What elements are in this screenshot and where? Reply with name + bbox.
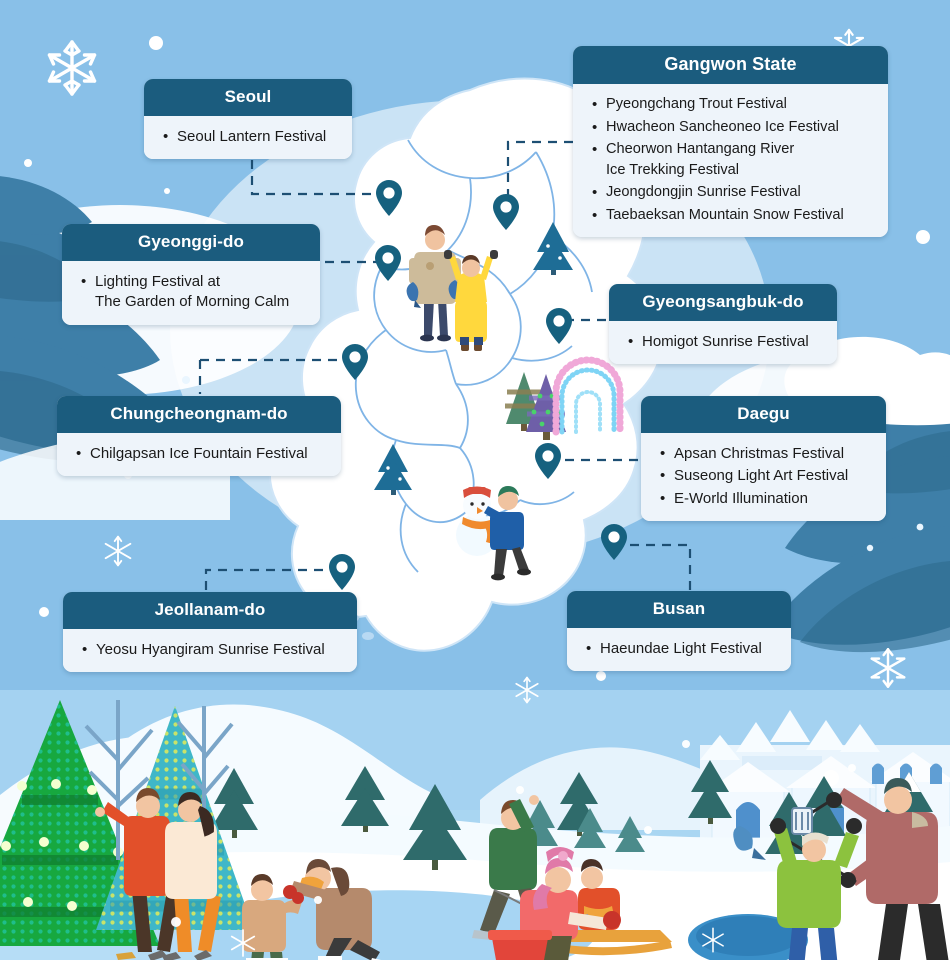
map-pin-daegu[interactable]: [534, 442, 562, 485]
map-pin-gangwon[interactable]: [492, 193, 520, 236]
festival-list-busan: Haeundae Light Festival: [583, 639, 775, 659]
map-pin-icon: [374, 244, 402, 282]
festival-item: Hwacheon Sancheoneo Ice Festival: [589, 117, 872, 138]
map-pin-icon: [534, 442, 562, 480]
card-body-gyeongsangbuk: Homigot Sunrise Festival: [609, 321, 837, 364]
card-body-gyeonggi: Lighting Festival at The Garden of Morni…: [62, 261, 320, 325]
map-pin-seoul[interactable]: [375, 179, 403, 222]
card-body-daegu: Apsan Christmas FestivalSuseong Light Ar…: [641, 433, 886, 521]
festival-list-seoul: Seoul Lantern Festival: [160, 127, 336, 147]
card-title-gyeonggi: Gyeonggi-do: [62, 224, 320, 261]
festival-list-gyeongsangbuk: Homigot Sunrise Festival: [625, 332, 821, 352]
card-title-gangwon: Gangwon State: [573, 46, 888, 84]
festival-item: Seoul Lantern Festival: [160, 127, 336, 147]
card-body-gangwon: Pyeongchang Trout FestivalHwacheon Sanch…: [573, 84, 888, 237]
card-gangwon[interactable]: Gangwon State Pyeongchang Trout Festival…: [573, 46, 888, 237]
card-busan[interactable]: Busan Haeundae Light Festival: [567, 591, 791, 671]
card-gyeongsangbuk[interactable]: Gyeongsangbuk-do Homigot Sunrise Festiva…: [609, 284, 837, 364]
festival-item: Homigot Sunrise Festival: [625, 332, 821, 352]
snowflake-icon: [516, 678, 538, 703]
festival-list-gyeonggi: Lighting Festival at The Garden of Morni…: [78, 272, 304, 313]
card-title-seoul: Seoul: [144, 79, 352, 116]
card-chungcheongnam[interactable]: Chungcheongnam-do Chilgapsan Ice Fountai…: [57, 396, 341, 476]
card-gyeonggi[interactable]: Gyeonggi-do Lighting Festival at The Gar…: [62, 224, 320, 325]
map-pin-gyeonggi[interactable]: [374, 244, 402, 287]
map-pin-icon: [328, 553, 356, 591]
snowflake-icon: [50, 42, 95, 94]
card-jeollanam[interactable]: Jeollanam-do Yeosu Hyangiram Sunrise Fes…: [63, 592, 357, 672]
map-pin-chungcheongnam[interactable]: [341, 343, 369, 386]
winter-festival-map-infographic: Seoul Seoul Lantern Festival Gangwon Sta…: [0, 0, 950, 960]
card-title-jeollanam: Jeollanam-do: [63, 592, 357, 629]
festival-item: Pyeongchang Trout Festival: [589, 94, 872, 115]
festival-list-gangwon: Pyeongchang Trout FestivalHwacheon Sanch…: [589, 94, 872, 225]
festival-item: Haeundae Light Festival: [583, 639, 775, 659]
map-pin-icon: [545, 307, 573, 345]
card-body-busan: Haeundae Light Festival: [567, 628, 791, 671]
map-pin-icon: [600, 523, 628, 561]
card-title-chungcheongnam: Chungcheongnam-do: [57, 396, 341, 433]
map-pin-busan[interactable]: [600, 523, 628, 566]
snowflake-icon: [106, 537, 131, 566]
map-pin-icon: [341, 343, 369, 381]
festival-item: Suseong Light Art Festival: [657, 466, 870, 486]
festival-item: E-World Illumination: [657, 489, 870, 509]
card-body-chungcheongnam: Chilgapsan Ice Fountain Festival: [57, 433, 341, 476]
festival-list-jeollanam: Yeosu Hyangiram Sunrise Festival: [79, 640, 341, 660]
card-title-busan: Busan: [567, 591, 791, 628]
card-seoul[interactable]: Seoul Seoul Lantern Festival: [144, 79, 352, 159]
festival-item: Yeosu Hyangiram Sunrise Festival: [79, 640, 341, 660]
festival-item: Apsan Christmas Festival: [657, 444, 870, 464]
card-title-daegu: Daegu: [641, 396, 886, 433]
festival-item: Chilgapsan Ice Fountain Festival: [73, 444, 325, 464]
card-body-seoul: Seoul Lantern Festival: [144, 116, 352, 159]
festival-list-daegu: Apsan Christmas FestivalSuseong Light Ar…: [657, 444, 870, 509]
map-pin-jeollanam[interactable]: [328, 553, 356, 596]
festival-item: Jeongdongjin Sunrise Festival: [589, 182, 872, 203]
snowflake-icon: [872, 649, 904, 686]
map-pin-icon: [492, 193, 520, 231]
festival-item: Cheorwon Hantangang River Ice Trekking F…: [589, 139, 872, 180]
card-body-jeollanam: Yeosu Hyangiram Sunrise Festival: [63, 629, 357, 672]
festival-list-chungcheongnam: Chilgapsan Ice Fountain Festival: [73, 444, 325, 464]
festival-item: Taebaeksan Mountain Snow Festival: [589, 205, 872, 226]
festival-item: Lighting Festival at The Garden of Morni…: [78, 272, 304, 313]
card-title-gyeongsangbuk: Gyeongsangbuk-do: [609, 284, 837, 321]
map-pin-gyeongsangbuk[interactable]: [545, 307, 573, 350]
map-pin-icon: [375, 179, 403, 217]
card-daegu[interactable]: Daegu Apsan Christmas FestivalSuseong Li…: [641, 396, 886, 521]
